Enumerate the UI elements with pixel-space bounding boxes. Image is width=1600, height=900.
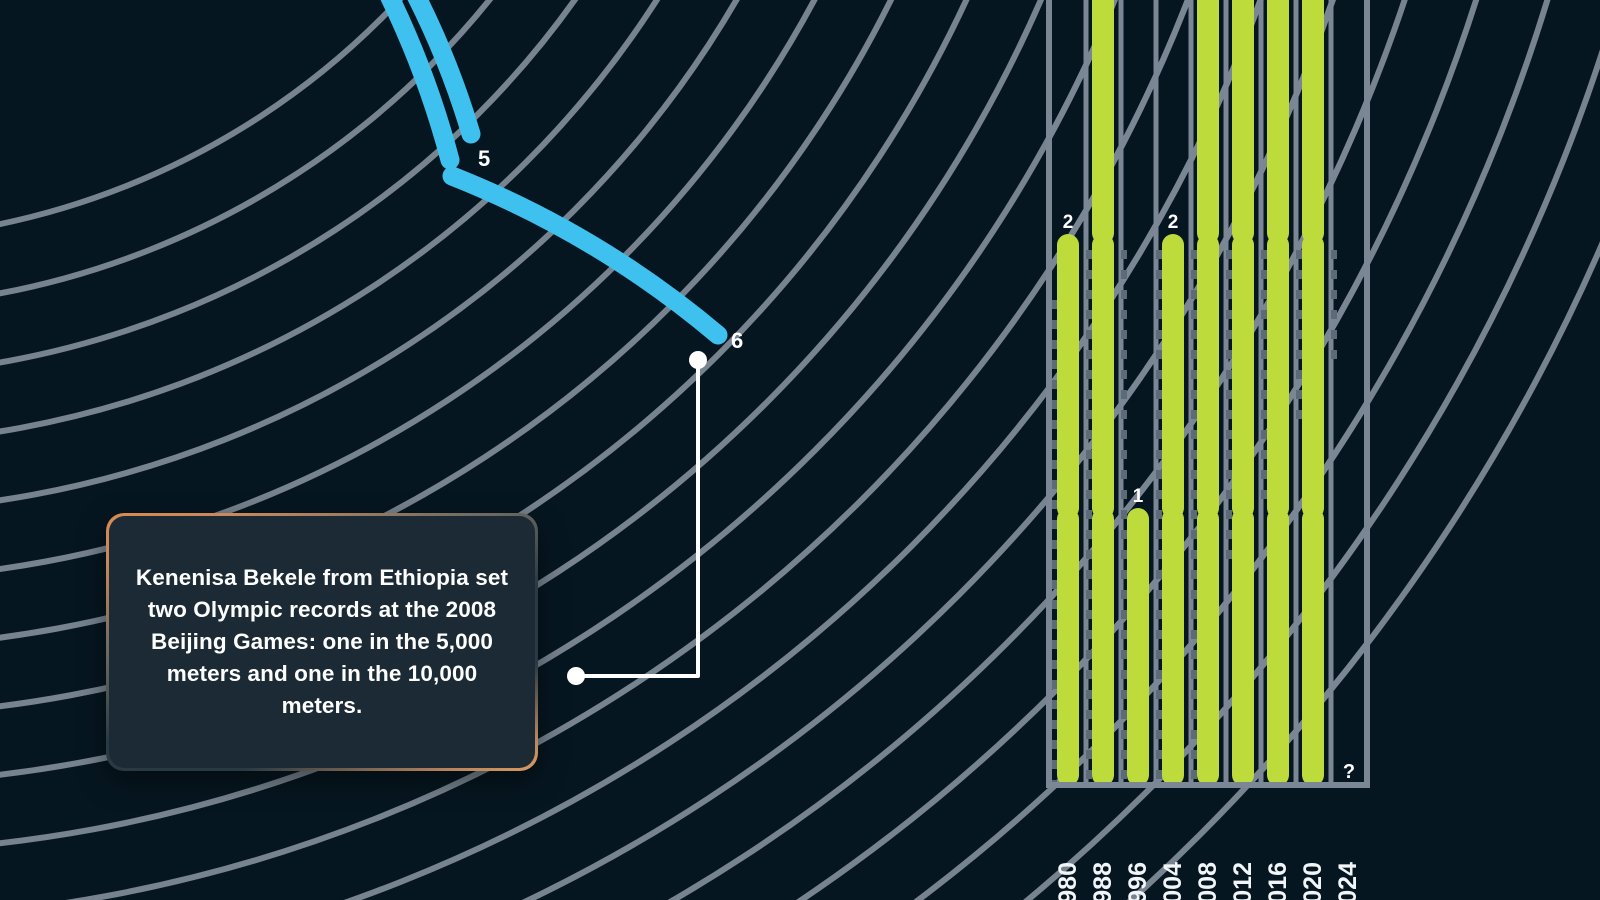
infographic-stage: 5 6 xyxy=(0,0,1600,900)
annotation-card[interactable]: Kenenisa Bekele from Ethiopia set two Ol… xyxy=(106,513,538,771)
connector-dot-end xyxy=(567,667,585,685)
connector-line xyxy=(576,360,698,676)
connector-dot-start xyxy=(689,351,707,369)
annotation-card-inner: Kenenisa Bekele from Ethiopia set two Ol… xyxy=(109,516,535,768)
annotation-text: Kenenisa Bekele from Ethiopia set two Ol… xyxy=(135,562,509,722)
